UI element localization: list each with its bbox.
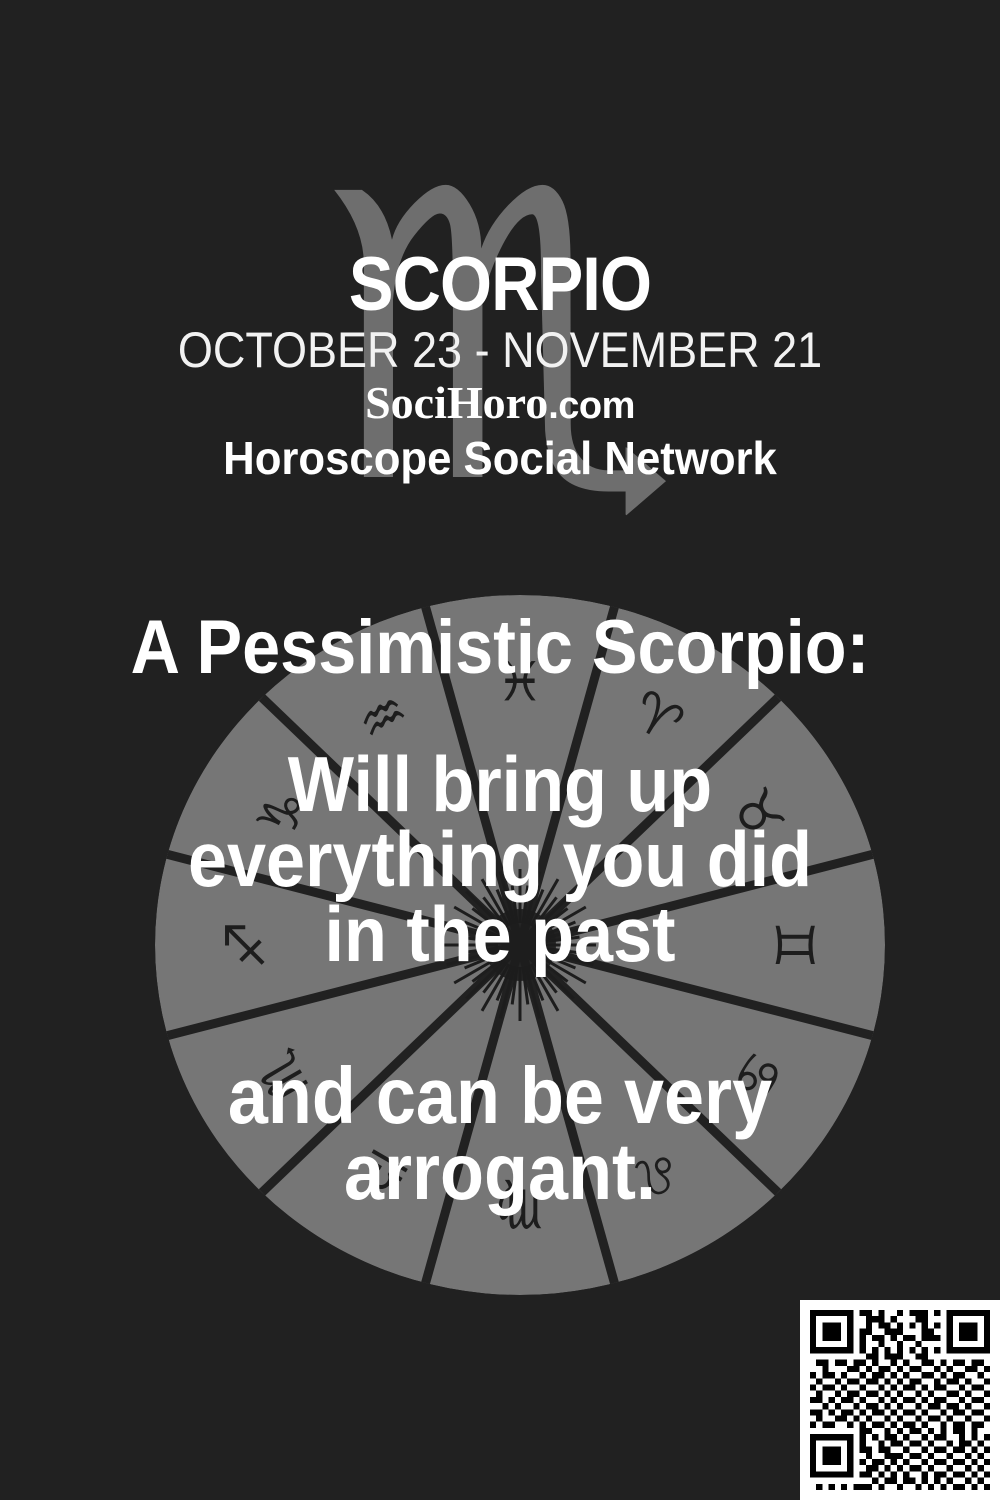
horoscope-poster: ♈♉♊♋♌♍♎♏♐♑♒♓ ♏ SCORPIO OCTOBER 23 - NOVE…: [0, 0, 1000, 1500]
message-tail-line: arrogant.: [50, 1134, 950, 1211]
message-heading-line: A Pessimistic Scorpio:: [50, 612, 950, 685]
message-block: A Pessimistic Scorpio: Will bring upever…: [0, 612, 1000, 1211]
message-body: Will bring upeverything you didin the pa…: [0, 747, 1000, 972]
poster-header: SCORPIO OCTOBER 23 - NOVEMBER 21 SociHor…: [0, 250, 1000, 483]
message-body-line: everything you did: [50, 822, 950, 897]
brand-name: SociHoro: [365, 377, 548, 428]
message-tail: and can be veryarrogant.: [0, 1058, 1000, 1212]
qr-code[interactable]: [800, 1300, 1000, 1500]
tagline: Horoscope Social Network: [25, 434, 975, 482]
message-body-line: in the past: [50, 897, 950, 972]
brand-tld: .com: [548, 385, 635, 427]
message-body-line: Will bring up: [50, 747, 950, 822]
page-title: SCORPIO: [60, 250, 940, 320]
message-tail-line: and can be very: [50, 1058, 950, 1135]
brand-line: SociHoro.com: [0, 380, 1000, 426]
message-heading: A Pessimistic Scorpio:: [0, 612, 1000, 685]
date-range: OCTOBER 23 - NOVEMBER 21: [50, 324, 950, 377]
